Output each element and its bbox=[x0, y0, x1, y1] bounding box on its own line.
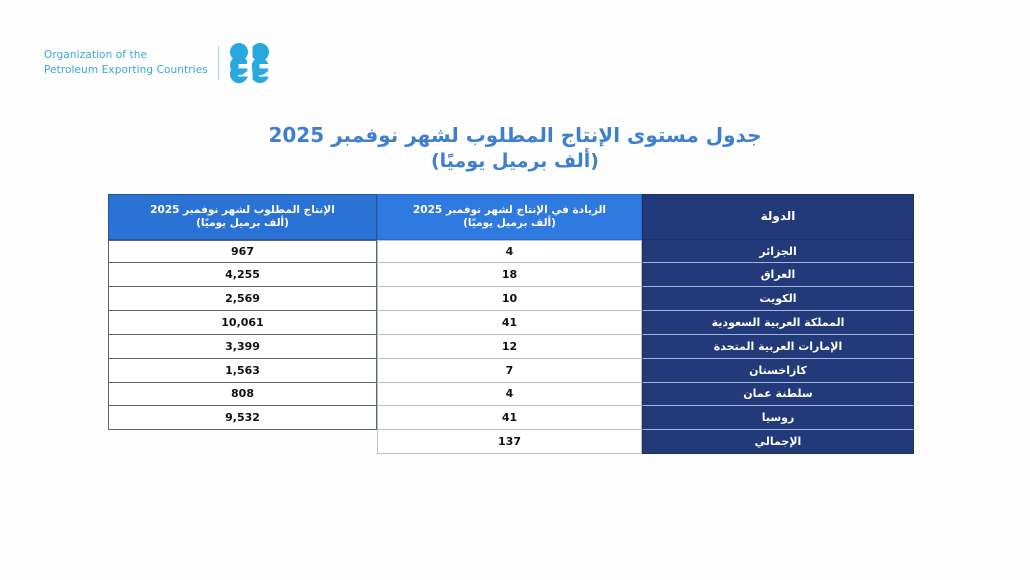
cell-required: 2,569 bbox=[108, 287, 377, 311]
cell-required: 4,255 bbox=[108, 263, 377, 287]
page-title-line1: جدول مستوى الإنتاج المطلوب لشهر نوفمبر 2… bbox=[0, 122, 1030, 148]
brand-name-line1: Organization of the bbox=[44, 49, 208, 62]
table-row: روسيا bbox=[642, 406, 914, 430]
cell-increase-total: 137 bbox=[377, 430, 642, 454]
cell-required: 1,563 bbox=[108, 359, 377, 383]
production-table: الدولة الجزائر العراق الكويت المملكة الع… bbox=[108, 194, 914, 454]
table-row: الجزائر bbox=[642, 240, 914, 264]
cell-increase: 18 bbox=[377, 263, 642, 287]
column-increase: الزيادة في الإنتاج لشهر نوفمبر 2025 (ألف… bbox=[377, 194, 642, 454]
cell-required: 10,061 bbox=[108, 311, 377, 335]
cell-required: 3,399 bbox=[108, 335, 377, 359]
cell-increase: 7 bbox=[377, 359, 642, 383]
cell-increase: 4 bbox=[377, 383, 642, 407]
table-row-total: الإجمالي bbox=[642, 430, 914, 454]
page-title: جدول مستوى الإنتاج المطلوب لشهر نوفمبر 2… bbox=[0, 122, 1030, 174]
cell-increase: 4 bbox=[377, 240, 642, 264]
opec-logo-icon bbox=[229, 42, 275, 84]
header-increase-line2: (ألف برميل يوميًا) bbox=[413, 217, 606, 230]
header-country: الدولة bbox=[642, 194, 914, 240]
cell-required: 967 bbox=[108, 240, 377, 264]
table-row: سلطنة عمان bbox=[642, 383, 914, 407]
header-required-line2: (ألف برميل يوميًا) bbox=[150, 217, 335, 230]
header-required-line1: الإنتاج المطلوب لشهر نوفمبر 2025 bbox=[150, 204, 335, 217]
header-increase-line1: الزيادة في الإنتاج لشهر نوفمبر 2025 bbox=[413, 204, 606, 217]
cell-required-total bbox=[108, 430, 377, 454]
table-row: العراق bbox=[642, 263, 914, 287]
cell-increase: 10 bbox=[377, 287, 642, 311]
cell-required: 808 bbox=[108, 383, 377, 407]
cell-increase: 41 bbox=[377, 311, 642, 335]
brand-name: Organization of the Petroleum Exporting … bbox=[44, 49, 208, 77]
cell-increase: 12 bbox=[377, 335, 642, 359]
logo-divider bbox=[218, 46, 219, 80]
header-increase: الزيادة في الإنتاج لشهر نوفمبر 2025 (ألف… bbox=[377, 194, 642, 240]
page-title-line2: (ألف برميل يوميًا) bbox=[0, 148, 1030, 174]
header-required-production: الإنتاج المطلوب لشهر نوفمبر 2025 (ألف بر… bbox=[108, 194, 377, 240]
table-row: المملكة العربية السعودية bbox=[642, 311, 914, 335]
opec-brand-logo: Organization of the Petroleum Exporting … bbox=[44, 42, 275, 84]
table-row: كازاخستان bbox=[642, 359, 914, 383]
cell-required: 9,532 bbox=[108, 406, 377, 430]
column-country: الدولة الجزائر العراق الكويت المملكة الع… bbox=[642, 194, 914, 454]
cell-increase: 41 bbox=[377, 406, 642, 430]
brand-name-line2: Petroleum Exporting Countries bbox=[44, 64, 208, 77]
column-required-production: الإنتاج المطلوب لشهر نوفمبر 2025 (ألف بر… bbox=[108, 194, 377, 454]
table-row: الإمارات العربية المتحدة bbox=[642, 335, 914, 359]
table-row: الكويت bbox=[642, 287, 914, 311]
